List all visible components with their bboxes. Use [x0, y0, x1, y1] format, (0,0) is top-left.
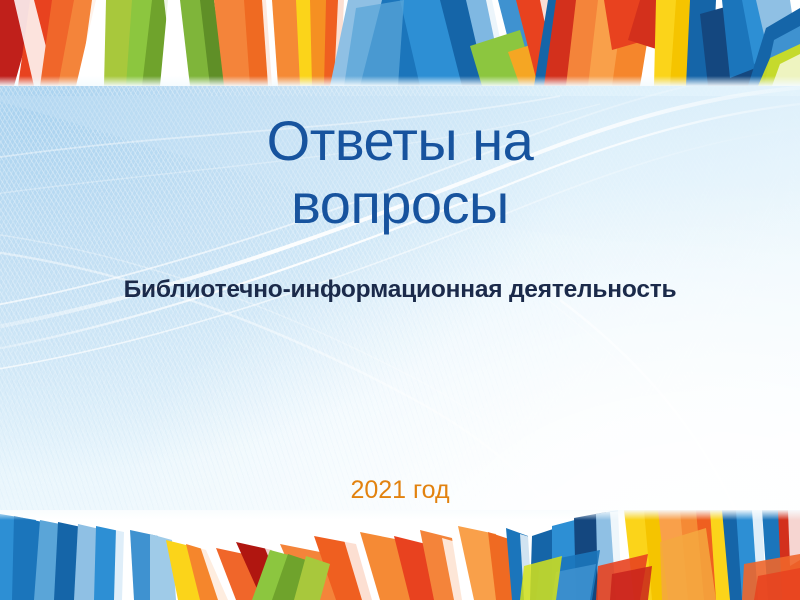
bottom-border-shards: [0, 510, 800, 600]
bottom-decorative-border: [0, 510, 800, 600]
presentation-slide: Ответы на вопросы Библиотечно-информацио…: [0, 0, 800, 600]
top-border-shards: [0, 0, 800, 86]
slide-year: 2021 год: [0, 476, 800, 505]
top-decorative-border: [0, 0, 800, 86]
slide-title: Ответы на вопросы: [0, 110, 800, 235]
slide-subtitle: Библиотечно-информационная деятельность: [0, 276, 800, 304]
